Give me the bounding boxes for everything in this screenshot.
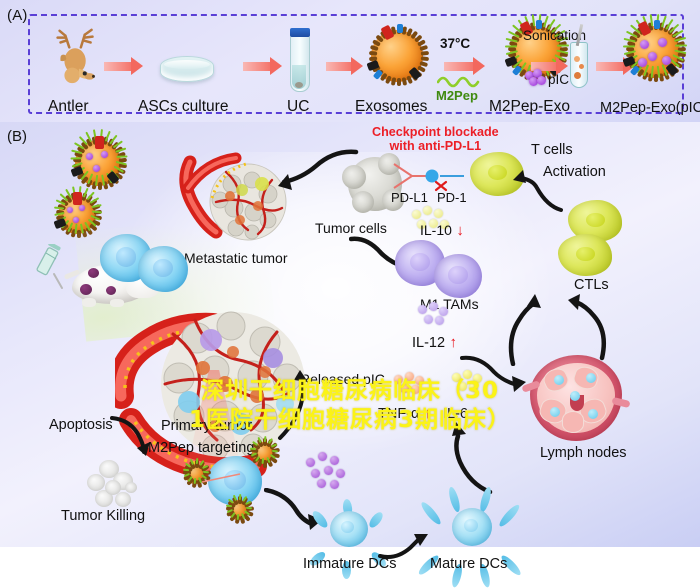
- free-exosome-2-icon: [58, 196, 96, 234]
- tnf-alpha-cytokine-cluster: [394, 372, 434, 398]
- annotation-pic: pIC: [548, 72, 569, 87]
- panel-b-label: (B): [7, 128, 27, 145]
- annotation-m2pep: M2Pep: [436, 88, 478, 103]
- arrow-apoptosis: [110, 414, 156, 458]
- label-il-10: IL-10: [420, 222, 452, 238]
- label-il-10-group: IL-10 ↓: [420, 222, 464, 240]
- label-mature-dcs: Mature DCs: [430, 556, 507, 572]
- label-ctls: CTLs: [574, 277, 609, 293]
- arrow-uc-to-exosomes: [326, 62, 352, 71]
- il-12-cytokine-cluster: [418, 302, 458, 330]
- stage-caption-m2pep-exo-pic: M2Pep-Exo(pIC): [600, 100, 700, 116]
- stage-uc: UC: [276, 16, 324, 114]
- arrow-culture-to-uc: [243, 62, 271, 71]
- checkpoint-line-2: with anti-PD-L1: [372, 139, 499, 153]
- stage-ascs-culture: ASCs culture: [138, 24, 238, 114]
- label-pd-l1: PD-L1: [391, 190, 428, 205]
- stage-exosomes: Exosomes: [356, 16, 440, 114]
- arrow-activation: [509, 170, 565, 214]
- ctl-cell-2-icon: [558, 234, 612, 276]
- label-tumor-cells: Tumor cells: [315, 220, 387, 236]
- lymph-node-illustration: [530, 355, 622, 441]
- stage-caption-antler: Antler: [48, 98, 89, 116]
- centrifuge-tube-icon: [290, 28, 310, 92]
- exosome-icon: [371, 30, 423, 82]
- arrow-antler-to-culture: [104, 62, 132, 71]
- free-exosome-1-icon: [75, 140, 121, 186]
- label-il-12-group: IL-12 ↑: [412, 334, 457, 352]
- immature-dc-icon: [316, 497, 382, 561]
- il-12-up-arrow: ↑: [450, 334, 458, 351]
- arrow-released-pic: [276, 370, 336, 442]
- m2pep-exosome-pic-icon: [628, 26, 680, 78]
- targeting-exosome-3-icon: [228, 500, 248, 520]
- deer-icon: [46, 26, 108, 88]
- stage-caption-exosomes: Exosomes: [355, 98, 427, 116]
- il-10-down-arrow: ↓: [456, 222, 464, 239]
- m2-tam-cell-2-icon: [138, 246, 188, 292]
- stage-caption-m2pep-exo: M2Pep-Exo: [489, 98, 570, 116]
- figure-root: (A) Antler ASCs culture: [0, 0, 700, 547]
- mature-dc-icon: [434, 490, 510, 562]
- label-apoptosis: Apoptosis: [49, 417, 113, 433]
- targeting-exosome-1-icon: [252, 442, 274, 464]
- targeting-link-line: [200, 470, 244, 486]
- arrow-lymphnode-to-ctls-2: [552, 292, 610, 362]
- sonicator-tube-icon: [568, 28, 590, 94]
- label-pd-1: PD-1: [437, 190, 467, 205]
- panel-a: (A) Antler ASCs culture: [0, 0, 700, 122]
- label-m2pep-targeting: M2Pep targeting: [148, 440, 254, 456]
- arrow-maturedcs-to-lymphnodes: [442, 418, 500, 494]
- m1-tam-cell-2-icon: [434, 254, 482, 298]
- label-il-12: IL-12: [412, 335, 445, 351]
- label-lymph-nodes: Lymph nodes: [540, 445, 627, 461]
- annotation-temperature: 37°C: [440, 36, 470, 51]
- stage-caption-ascs: ASCs culture: [138, 98, 228, 116]
- label-tnf-alpha: TNF-α: [378, 406, 419, 422]
- arrow-tumorcells-to-metastatic: [276, 146, 360, 196]
- stage-caption-uc: UC: [287, 98, 309, 116]
- arrow-to-lymph-nodes: [460, 354, 530, 394]
- label-primary-tumor: Primary tumor: [161, 418, 252, 434]
- stage-m2pep-exo-pic: M2Pep-Exo(pIC): [608, 12, 700, 114]
- m2pep-squiggle-icon: [437, 74, 483, 88]
- arrow-exosomes-to-m2pepexo: [444, 62, 474, 71]
- label-tumor-killing: Tumor Killing: [61, 508, 145, 524]
- checkpoint-line-1: Checkpoint blockade: [372, 125, 499, 139]
- label-checkpoint-blockade: Checkpoint blockade with anti-PD-L1: [372, 125, 499, 154]
- tnf-alpha-up-arrow: ↑: [424, 405, 432, 422]
- petri-dish-icon: [160, 56, 214, 82]
- label-tnf-alpha-group: TNF-α ↑: [378, 405, 431, 423]
- panel-b: (B): [0, 122, 700, 547]
- label-metastatic-tumor: Metastatic tumor: [184, 250, 287, 266]
- arrow-immature-to-mature-dcs: [378, 532, 434, 562]
- panel-a-label: (A): [7, 7, 28, 24]
- pic-cluster-icon: [525, 69, 547, 87]
- label-t-cells: T cells: [531, 142, 573, 158]
